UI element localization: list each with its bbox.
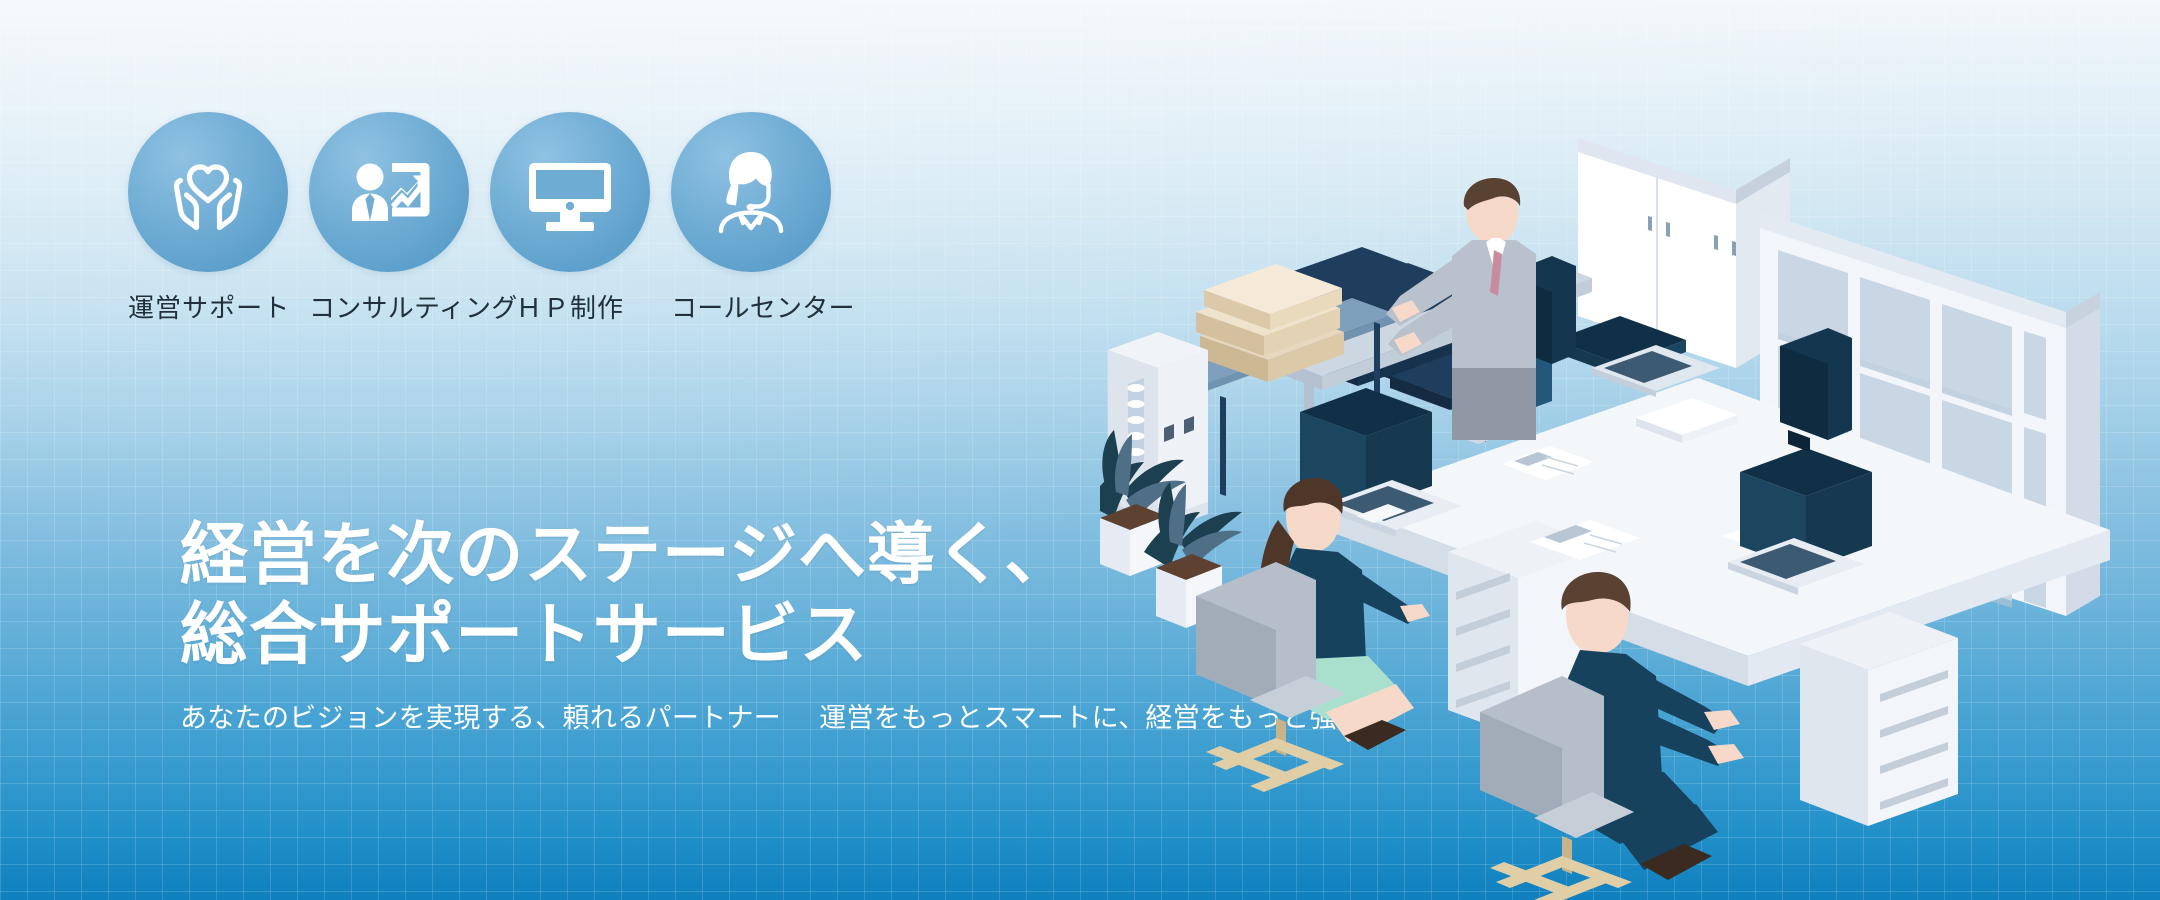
service-icon-row: 運営サポート コンサルティング [128, 112, 831, 323]
water-dispenser [1108, 332, 1208, 532]
service-item-call-center[interactable]: コールセンター [671, 112, 831, 323]
standing-man-in-suit [1386, 178, 1536, 440]
desktop-monitor-icon [490, 112, 650, 272]
hero-banner: 運営サポート コンサルティング [0, 0, 2160, 900]
service-item-consulting[interactable]: コンサルティング [309, 112, 469, 323]
presentation-person-chart-icon [309, 112, 469, 272]
service-item-homepage-production[interactable]: ＨＰ制作 [490, 112, 650, 323]
chair-base [1490, 836, 1632, 900]
service-label: コンサルティング [309, 294, 469, 323]
headset-operator-icon [671, 112, 831, 272]
drawer-pedestal [1800, 612, 1958, 826]
chair-base [1206, 718, 1344, 792]
office-chair [1780, 328, 1852, 452]
service-item-operation-support[interactable]: 運営サポート [128, 112, 288, 323]
service-label: 運営サポート [128, 294, 288, 323]
hands-heart-icon [128, 112, 288, 272]
service-label: コールセンター [671, 294, 831, 323]
service-label: ＨＰ制作 [490, 294, 650, 323]
subheadline-left: あなたのビジョンを実現する、頼れるパートナー [180, 701, 781, 736]
isometric-office-illustration [1100, 100, 2160, 900]
